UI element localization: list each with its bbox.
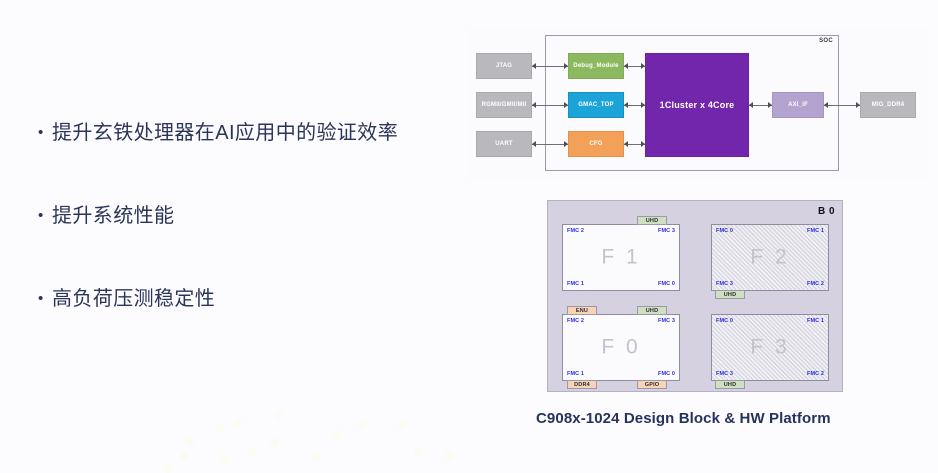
fpga-block-f1-name: F 1: [563, 245, 679, 269]
peripheral-block-cfg-label: CFG: [589, 141, 602, 147]
wire-axi-mig: [824, 105, 860, 106]
fmc-label: FMC 0: [716, 318, 733, 324]
soc-block-diagram: SOC JTAG RGMII/GMII/MII UART Debug_Modul…: [468, 27, 928, 179]
arrow-core-in-gmac: [641, 102, 645, 108]
peripheral-block-gmac-top: GMAC_TOP: [568, 92, 624, 118]
wire-jtag-debug: [532, 66, 568, 67]
connector-tab-uhd-f2: UHD: [715, 290, 745, 299]
fmc-label: FMC 2: [807, 281, 824, 287]
fmc-label: FMC 2: [567, 228, 584, 234]
connector-tab-ddr4-f0: DDR4: [567, 380, 597, 389]
wire-rgmii-gmac: [532, 105, 568, 106]
arrow-core-in-cfg: [641, 141, 645, 147]
io-block-rgmii: RGMII/GMII/MII: [476, 92, 532, 118]
interface-block-axi-if: AXI_IF: [772, 92, 824, 118]
arrow-gmac-out: [624, 102, 628, 108]
bullet-text: 提升玄铁处理器在AI应用中的验证效率: [52, 118, 398, 148]
hw-platform-board: B 0 F 1 FMC 2 FMC 3 FMC 1 FMC 0 UHD F 2 …: [547, 200, 843, 392]
arrow-cfg-out: [624, 141, 628, 147]
connector-tab-enu-f0: ENU: [567, 306, 597, 315]
arrow-rgmii-in: [532, 102, 536, 108]
bullet-marker: •: [38, 284, 52, 314]
arrow-uart-in: [532, 141, 536, 147]
bullet-item: • 高负荷压测稳定性: [38, 284, 448, 367]
connector-tab-gpio-f0: GPIO: [637, 380, 667, 389]
fmc-label: FMC 3: [716, 371, 733, 377]
fpga-block-f2: F 2 FMC 0 FMC 1 FMC 3 FMC 2: [711, 224, 829, 291]
fmc-label: FMC 1: [567, 371, 584, 377]
arrow-jtag-in: [532, 63, 536, 69]
memory-block-mig-ddr4-label: MIG_DDR4: [872, 102, 905, 108]
fpga-block-f3: F 3 FMC 0 FMC 1 FMC 3 FMC 2: [711, 314, 829, 381]
fpga-block-f1: F 1 FMC 2 FMC 3 FMC 1 FMC 0: [562, 224, 680, 291]
bullet-text: 提升系统性能: [52, 201, 174, 231]
io-block-rgmii-label: RGMII/GMII/MII: [482, 102, 527, 108]
io-block-uart-label: UART: [495, 141, 512, 147]
core-block-cluster: 1Cluster x 4Core: [645, 53, 749, 157]
bullet-text: 高负荷压测稳定性: [52, 284, 215, 314]
fpga-block-f3-name: F 3: [712, 335, 828, 359]
io-block-jtag-label: JTAG: [496, 63, 512, 69]
core-block-cluster-label: 1Cluster x 4Core: [660, 100, 735, 110]
fmc-label: FMC 0: [716, 228, 733, 234]
bullet-item: • 提升系统性能: [38, 201, 448, 284]
bullet-marker: •: [38, 201, 52, 231]
arrow-core-out: [749, 102, 753, 108]
arrow-axi-out: [824, 102, 828, 108]
fmc-label: FMC 1: [807, 228, 824, 234]
arrow-mig-in: [856, 102, 860, 108]
wire-uart-cfg: [532, 144, 568, 145]
fpga-block-f2-name: F 2: [712, 245, 828, 269]
fmc-label: FMC 3: [716, 281, 733, 287]
arrow-axi-in: [768, 102, 772, 108]
io-block-jtag: JTAG: [476, 53, 532, 79]
fmc-label: FMC 2: [807, 371, 824, 377]
fmc-label: FMC 3: [658, 228, 675, 234]
fmc-label: FMC 0: [658, 281, 675, 287]
fmc-label: FMC 3: [658, 318, 675, 324]
peripheral-block-debug-module-label: Debug_Module: [573, 63, 618, 69]
arrow-cfg-in: [564, 141, 568, 147]
fmc-label: FMC 1: [567, 281, 584, 287]
fmc-label: FMC 2: [567, 318, 584, 324]
bullet-item: • 提升玄铁处理器在AI应用中的验证效率: [38, 118, 448, 201]
connector-tab-uhd-f3: UHD: [715, 380, 745, 389]
watermark: [236, 408, 466, 468]
peripheral-block-gmac-top-label: GMAC_TOP: [578, 102, 614, 108]
arrow-debug-out: [624, 63, 628, 69]
arrow-gmac-in: [564, 102, 568, 108]
connector-tab-uhd-f1: UHD: [637, 216, 667, 225]
diagram-caption: C908x-1024 Design Block & HW Platform: [536, 410, 831, 427]
board-label: B 0: [818, 206, 835, 217]
fmc-label: FMC 1: [807, 318, 824, 324]
soc-label: SOC: [819, 38, 833, 44]
bullet-list: • 提升玄铁处理器在AI应用中的验证效率 • 提升系统性能 • 高负荷压测稳定性: [38, 118, 448, 367]
io-block-uart: UART: [476, 131, 532, 157]
peripheral-block-debug-module: Debug_Module: [568, 53, 624, 79]
bullet-marker: •: [38, 118, 52, 148]
peripheral-block-cfg: CFG: [568, 131, 624, 157]
connector-tab-uhd-f0: UHD: [637, 306, 667, 315]
memory-block-mig-ddr4: MIG_DDR4: [860, 92, 916, 118]
interface-block-axi-if-label: AXI_IF: [788, 102, 808, 108]
fpga-block-f0: F 0 FMC 2 FMC 3 FMC 1 FMC 0: [562, 314, 680, 381]
arrow-core-in-debug: [641, 63, 645, 69]
arrow-debug-in: [564, 63, 568, 69]
fpga-block-f0-name: F 0: [563, 335, 679, 359]
fmc-label: FMC 0: [658, 371, 675, 377]
